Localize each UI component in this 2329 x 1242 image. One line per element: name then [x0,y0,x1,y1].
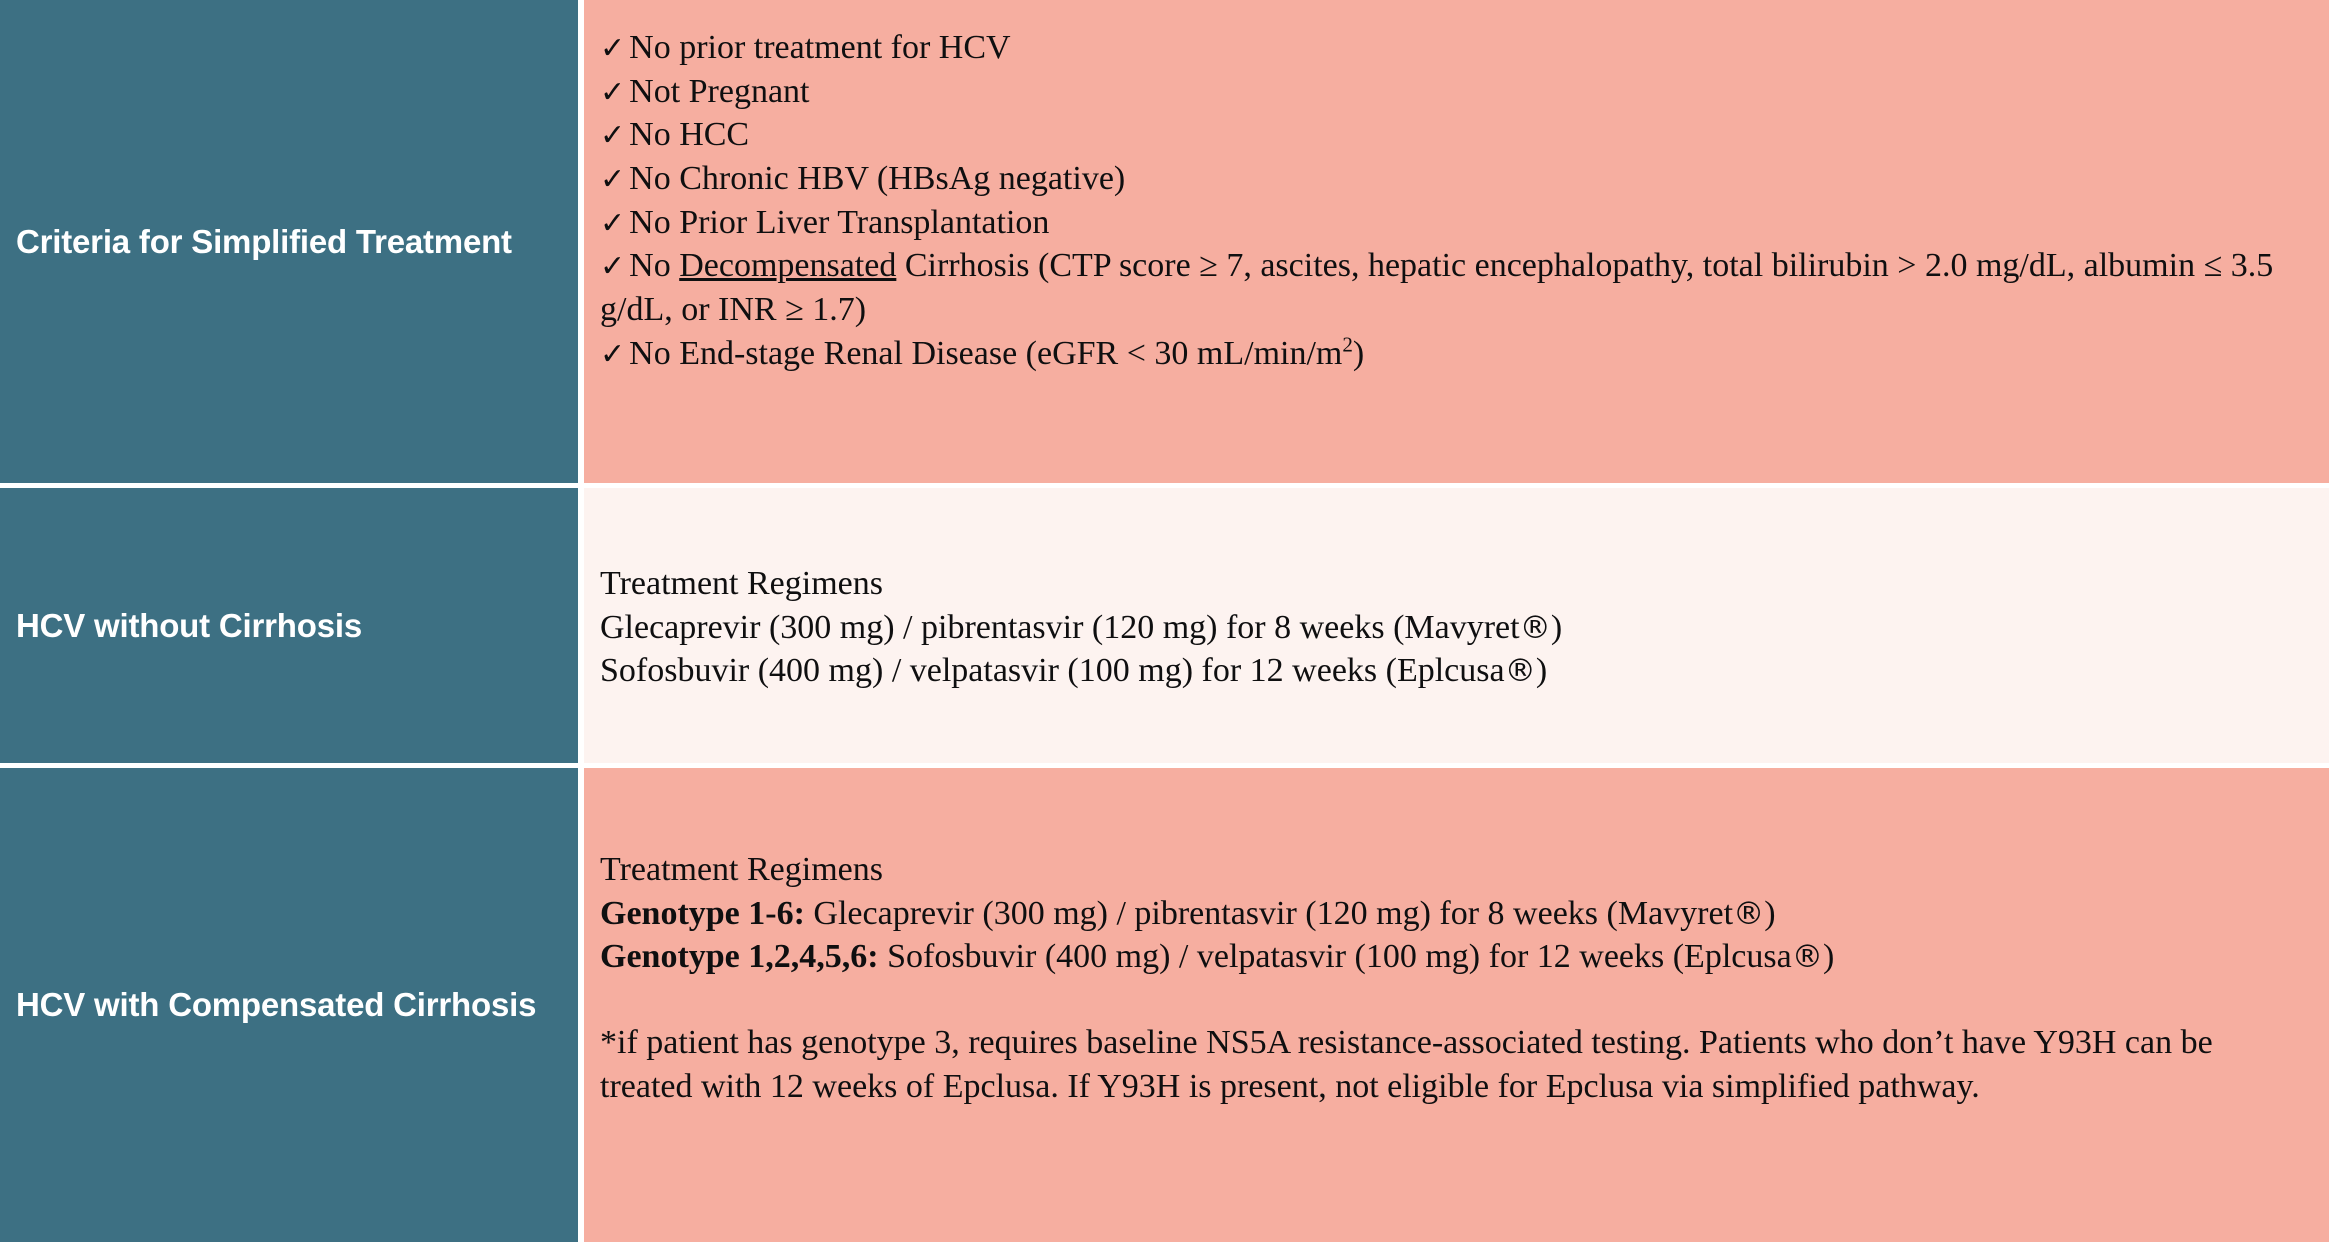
superscript-exponent: 2 [1342,332,1353,356]
list-item: ✓No HCC [600,113,2303,157]
criterion-text: No HCC [629,116,749,153]
criterion-text: No Chronic HBV (HBsAg negative) [629,160,1125,197]
regimen-text: Sofosbuvir (400 mg) / velpatasvir (100 m… [879,938,1792,975]
list-item: ✓Not Pregnant [600,70,2303,114]
regimen-text: Glecaprevir (300 mg) / pibrentasvir (120… [600,609,1520,646]
row-content-hcv-without-cirrhosis: Treatment Regimens Glecaprevir (300 mg) … [584,488,2329,768]
regimen-tail: ) [1536,652,1547,689]
regimens-heading: Treatment Regimens [600,848,2303,892]
regimens-block: Treatment Regimens Glecaprevir (300 mg) … [600,562,2303,693]
criterion-suffix: ) [1353,335,1364,372]
criterion-text: No Prior Liver Transplantation [629,204,1049,241]
list-item: ✓No prior treatment for HCV [600,26,2303,70]
check-icon: ✓ [600,118,629,153]
list-item: ✓No Chronic HBV (HBsAg negative) [600,157,2303,201]
footnote-text: *if patient has genotype 3, requires bas… [600,1021,2303,1108]
registered-trademark-icon: ® [1733,896,1764,932]
list-item: ✓No Decompensated Cirrhosis (CTP score ≥… [600,244,2303,331]
regimen-tail: ) [1764,895,1775,932]
row-label-criteria: Criteria for Simplified Treatment [16,220,512,264]
list-item: ✓No End-stage Renal Disease (eGFR < 30 m… [600,332,2303,376]
row-label-cell-hcv-without-cirrhosis: HCV without Cirrhosis [0,488,578,768]
check-icon: ✓ [600,75,629,110]
regimen-line: Genotype 1-6: Glecaprevir (300 mg) / pib… [600,892,2303,936]
table-row-hcv-with-compensated-cirrhosis: HCV with Compensated Cirrhosis Treatment… [0,768,2329,1242]
regimen-line: Glecaprevir (300 mg) / pibrentasvir (120… [600,606,2303,650]
regimens-heading: Treatment Regimens [600,562,2303,606]
criteria-list: ✓No prior treatment for HCV ✓Not Pregnan… [600,26,2303,376]
genotype-label: Genotype 1-6: [600,895,805,932]
regimens-block: Treatment Regimens Genotype 1-6: Glecapr… [600,848,2303,1108]
registered-trademark-icon: ® [1792,939,1823,975]
regimen-line: Sofosbuvir (400 mg) / velpatasvir (100 m… [600,649,2303,693]
table-row-criteria: Criteria for Simplified Treatment ✓No pr… [0,0,2329,488]
criterion-prefix: No End-stage Renal Disease (eGFR < 30 mL… [629,335,1342,372]
check-icon: ✓ [600,249,629,284]
regimen-text: Glecaprevir (300 mg) / pibrentasvir (120… [805,895,1733,932]
genotype-label: Genotype 1,2,4,5,6: [600,938,879,975]
check-icon: ✓ [600,31,629,66]
registered-trademark-icon: ® [1505,653,1536,689]
row-label-hcv-without-cirrhosis: HCV without Cirrhosis [16,604,362,648]
row-content-hcv-with-compensated-cirrhosis: Treatment Regimens Genotype 1-6: Glecapr… [584,768,2329,1242]
criterion-underlined-term: Decompensated [679,247,896,284]
check-icon: ✓ [600,206,629,241]
regimen-line: Genotype 1,2,4,5,6: Sofosbuvir (400 mg) … [600,935,2303,979]
regimen-tail: ) [1551,609,1562,646]
table-row-hcv-without-cirrhosis: HCV without Cirrhosis Treatment Regimens… [0,488,2329,768]
hcv-simplified-treatment-table: Criteria for Simplified Treatment ✓No pr… [0,0,2329,1242]
criterion-prefix: No [629,247,679,284]
check-icon: ✓ [600,337,629,372]
row-content-criteria: ✓No prior treatment for HCV ✓Not Pregnan… [584,0,2329,488]
check-icon: ✓ [600,162,629,197]
regimen-tail: ) [1823,938,1834,975]
row-label-hcv-with-compensated-cirrhosis: HCV with Compensated Cirrhosis [16,983,536,1027]
list-item: ✓No Prior Liver Transplantation [600,201,2303,245]
row-label-cell-hcv-with-compensated-cirrhosis: HCV with Compensated Cirrhosis [0,768,578,1242]
row-label-cell-criteria: Criteria for Simplified Treatment [0,0,578,488]
criterion-text: No prior treatment for HCV [629,29,1010,66]
registered-trademark-icon: ® [1520,610,1551,646]
criterion-text: Not Pregnant [629,73,809,110]
regimen-text: Sofosbuvir (400 mg) / velpatasvir (100 m… [600,652,1505,689]
